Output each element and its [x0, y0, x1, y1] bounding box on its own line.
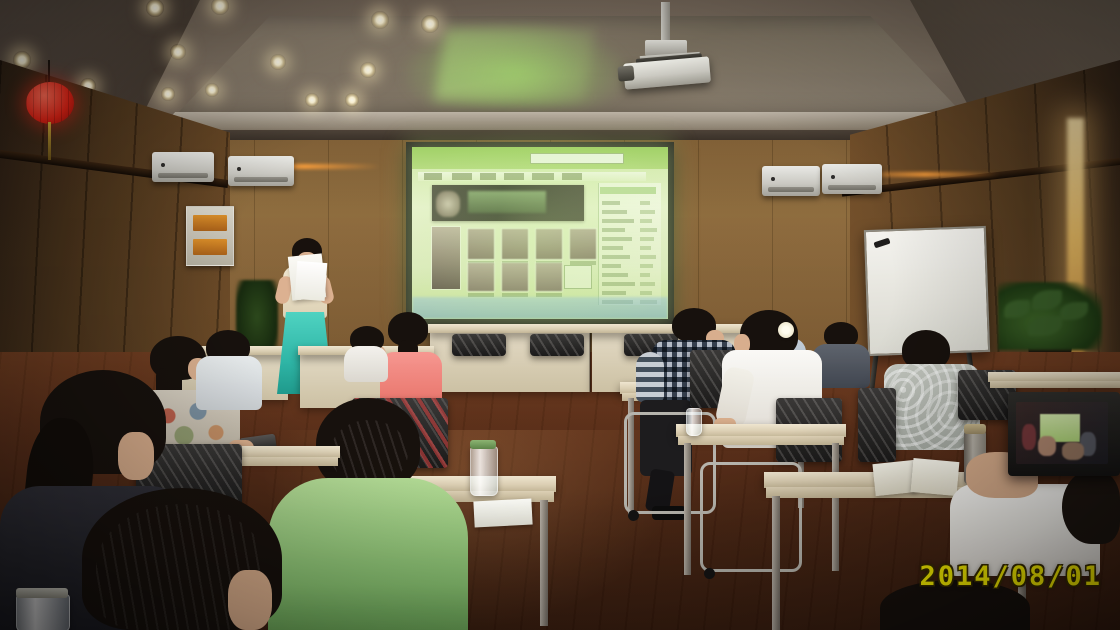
wall-sign-plate-top: [193, 215, 227, 231]
projector-green-light-spill-secondary: [434, 28, 595, 100]
thermos-cap: [964, 424, 986, 434]
camera-date-stamp: 2014/08/01: [919, 561, 1102, 592]
projected-portrait-thumb-6: [502, 263, 528, 291]
attendee-back-left-torso: [196, 356, 262, 410]
open-notebook-center: [473, 499, 532, 528]
projected-sidebar-value-4: [640, 228, 657, 232]
projected-nav-item: [532, 173, 554, 180]
projected-portrait-thumb-5: [468, 263, 494, 291]
ac-unit-right-2: [822, 164, 882, 194]
ac-indicator: [237, 167, 241, 171]
ceiling-downlight-12: [360, 62, 376, 78]
projected-portrait-thumb-7: [536, 263, 562, 291]
chair-grey-left-mesh: [858, 388, 896, 462]
ac-vent: [828, 185, 876, 190]
projected-sidebar-value-8: [640, 264, 653, 268]
desk-leg-front-right-a: [772, 496, 780, 630]
projected-sidebar-value-5: [640, 237, 654, 241]
projected-nav-item: [480, 173, 496, 180]
projected-sidebar-header: [600, 187, 656, 194]
white-flower-hair-clip: [778, 322, 794, 338]
projected-sidebar-value-10: [640, 282, 655, 286]
projected-sidebar-row-5: [602, 237, 632, 241]
desk-leg-row3-right-b: [832, 443, 839, 571]
chair-row1-b-mesh: [530, 334, 584, 356]
projected-portrait-thumb-1: [468, 229, 494, 259]
plant-leaf: [1028, 316, 1062, 336]
glass-water-jar-right: [686, 408, 702, 436]
wall-sign-plate-bottom: [193, 239, 227, 255]
camcorder-lcd-figure: [1062, 442, 1084, 460]
ac-indicator: [831, 175, 835, 179]
ac-unit-left-2: [228, 156, 294, 186]
projected-sidebar-row-3: [602, 219, 634, 223]
projected-sidebar-row-8: [602, 264, 621, 268]
projector-mount-pole: [661, 2, 670, 42]
desk-leg-row3-center-b: [540, 500, 548, 626]
projected-sidebar-value-3: [640, 219, 652, 223]
projected-hero-portrait: [436, 191, 460, 217]
open-book-right-page: [911, 458, 960, 496]
projected-sidebar-row-10: [602, 282, 635, 286]
attendee-green-torso: [268, 478, 468, 630]
projected-search-field: [530, 153, 624, 164]
projected-portrait-thumb-4: [570, 229, 596, 259]
projected-sidebar-value-9: [640, 273, 650, 277]
projected-hero-headline: [468, 191, 546, 213]
lantern-ribs: [26, 82, 74, 124]
projected-sidebar-value-11: [640, 291, 652, 295]
projected-portrait-thumb-3: [536, 229, 562, 259]
ac-unit-right-1: [762, 166, 820, 196]
lantern-tassel: [48, 122, 51, 160]
projection-screen: [412, 147, 668, 319]
desk-panel-seam: [589, 330, 591, 392]
attendee-plaid-arm: [636, 352, 664, 402]
projected-placeholder-box: [564, 265, 592, 289]
ceiling-downlight-10: [371, 11, 389, 29]
attendee-white-foreground-hair: [1062, 470, 1120, 544]
ceiling-downlight-7: [161, 87, 175, 101]
wall-notice-sign: [186, 206, 234, 266]
ceiling-downlight-13: [345, 93, 359, 107]
glass-water-jar-foreground-lid: [16, 588, 68, 598]
projected-sidebar-row-6: [602, 246, 623, 250]
plant-leaf: [1032, 290, 1062, 310]
plant-leaf: [1060, 302, 1088, 320]
camcorder-lcd-figure: [1022, 424, 1036, 450]
camcorder-lcd-preview: [1016, 402, 1108, 464]
ac-unit-left-1: [152, 152, 214, 182]
projected-taskbar: [412, 297, 668, 319]
projected-nav-item: [562, 173, 582, 180]
projected-sidebar-row-11: [602, 291, 626, 295]
projected-sidebar-value-6: [640, 246, 651, 250]
plant-leaf: [1004, 300, 1030, 318]
ac-vent: [234, 177, 288, 182]
ac-vent: [158, 173, 208, 178]
projected-sidebar-value-7: [640, 255, 656, 259]
projected-sidebar-row-1: [602, 201, 620, 205]
photograph-canvas: 2014/08/01: [0, 0, 1120, 630]
ceiling-downlight-5: [170, 44, 186, 60]
ceiling-downlight-9: [305, 93, 319, 107]
projected-featured-portrait: [432, 227, 460, 289]
ac-vent: [768, 187, 814, 192]
projected-sidebar-value-2: [640, 210, 655, 214]
projected-nav-item: [424, 173, 442, 180]
projected-sidebar-row-2: [602, 210, 627, 214]
chair-row1-a-mesh: [452, 334, 506, 356]
chair-white-blouse-caster: [704, 568, 715, 579]
projected-sidebar-row-7: [602, 255, 630, 259]
chair-plaid-caster: [628, 510, 639, 521]
ceiling-downlight-11: [421, 15, 439, 33]
lantern-cord: [48, 60, 50, 82]
potted-plant-right: [998, 282, 1102, 350]
attendee-front-left-ear: [228, 570, 272, 630]
attendee-center-back-torso: [344, 346, 388, 382]
desk-edge-row3-right: [678, 436, 844, 445]
ceiling-downlight-6: [205, 83, 219, 97]
projected-nav-item: [504, 173, 524, 180]
ac-indicator: [161, 163, 165, 167]
desk-edge-far-right: [990, 381, 1120, 388]
glass-water-jar-center: [470, 446, 498, 496]
presenter-papers-front: [295, 261, 328, 301]
attendee-dark-neck: [118, 432, 154, 480]
projected-portrait-thumb-2: [502, 229, 528, 259]
projected-sidebar-value-1: [640, 201, 650, 205]
projected-sidebar-row-4: [602, 228, 625, 232]
glass-water-jar-center-lid: [470, 440, 496, 449]
projected-nav-item: [452, 173, 472, 180]
attendee-green-hair-strands: [330, 420, 408, 486]
desk-leg-row3-right-a: [684, 443, 691, 575]
camcorder-lcd-figure: [1038, 436, 1056, 456]
ac-indicator: [771, 177, 775, 181]
projector-lens: [617, 65, 634, 81]
ceiling-downlight-8: [270, 54, 286, 70]
projected-sidebar-row-9: [602, 273, 628, 277]
glass-water-jar-foreground: [16, 594, 70, 630]
